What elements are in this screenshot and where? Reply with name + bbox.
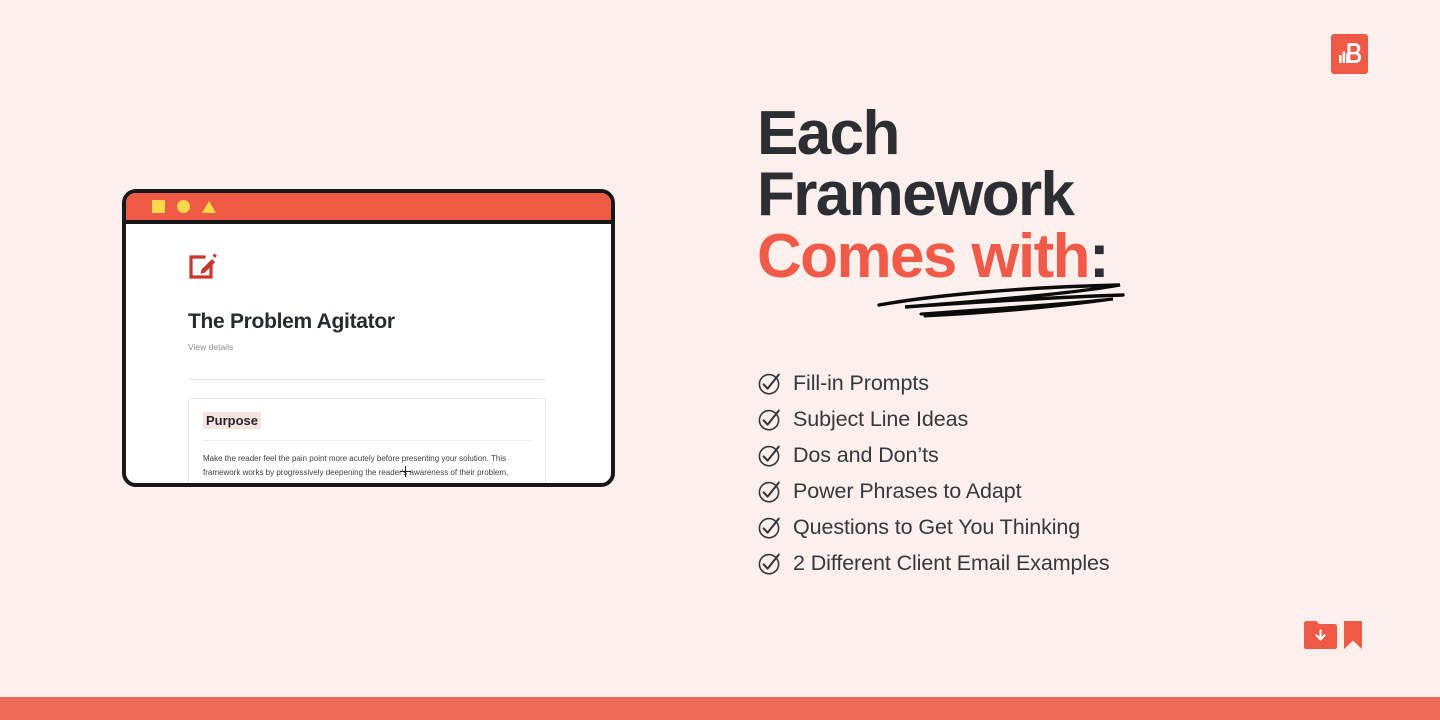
list-item-label: Subject Line Ideas [793, 407, 968, 432]
list-item-label: Dos and Don’ts [793, 443, 939, 468]
action-icon-group [1304, 620, 1362, 649]
check-circle-icon [757, 443, 782, 468]
browser-content: The Problem Agitator View details Purpos… [126, 224, 611, 479]
check-circle-icon [757, 407, 782, 432]
brand-logo [1331, 34, 1368, 74]
list-item: Power Phrases to Adapt [757, 474, 1377, 508]
square-shape-icon [152, 200, 165, 213]
b-bar-chart-logo-icon [1337, 41, 1362, 67]
purpose-heading-rule [203, 440, 531, 441]
purpose-section: Purpose Make the reader feel the pain po… [188, 398, 546, 487]
circle-shape-icon [177, 200, 190, 213]
list-item-label: 2 Different Client Email Examples [793, 551, 1110, 576]
card-title: The Problem Agitator [188, 310, 581, 334]
view-details-link[interactable]: View details [188, 342, 581, 352]
list-item: Subject Line Ideas [757, 402, 1377, 436]
headline-line-2: Framework [757, 164, 1377, 225]
list-item: Dos and Don’ts [757, 438, 1377, 472]
headline-colon: : [1089, 222, 1108, 291]
edit-pencil-square-icon [188, 250, 581, 286]
headline-accent-text: Comes with [757, 222, 1089, 291]
purpose-body-text: Make the reader feel the pain point more… [203, 452, 531, 487]
list-item: Fill-in Prompts [757, 366, 1377, 400]
headline-line-3: Comes with: [757, 226, 1377, 287]
feature-checklist: Fill-in Prompts Subject Line Ideas Dos a… [757, 366, 1377, 580]
browser-mock-window: The Problem Agitator View details Purpos… [122, 189, 615, 487]
list-item-label: Questions to Get You Thinking [793, 515, 1080, 540]
check-circle-icon [757, 515, 782, 540]
browser-titlebar [126, 193, 611, 224]
list-item-label: Fill-in Prompts [793, 371, 929, 396]
list-item: Questions to Get You Thinking [757, 510, 1377, 544]
check-circle-icon [757, 479, 782, 504]
list-item: 2 Different Client Email Examples [757, 546, 1377, 580]
headline-line-1: Each [757, 103, 1377, 164]
check-circle-icon [757, 371, 782, 396]
bookmark-icon[interactable] [1344, 620, 1362, 649]
triangle-shape-icon [202, 201, 216, 213]
hand-drawn-underline [875, 283, 1377, 324]
right-content-column: Each Framework Comes with: Fill-in Promp… [757, 103, 1377, 580]
bottom-accent-strip [0, 697, 1440, 720]
card-divider [188, 379, 545, 380]
purpose-heading: Purpose [203, 412, 261, 429]
download-folder-icon[interactable] [1304, 620, 1337, 649]
page-headline: Each Framework Comes with: [757, 103, 1377, 287]
check-circle-icon [757, 551, 782, 576]
list-item-label: Power Phrases to Adapt [793, 479, 1021, 504]
